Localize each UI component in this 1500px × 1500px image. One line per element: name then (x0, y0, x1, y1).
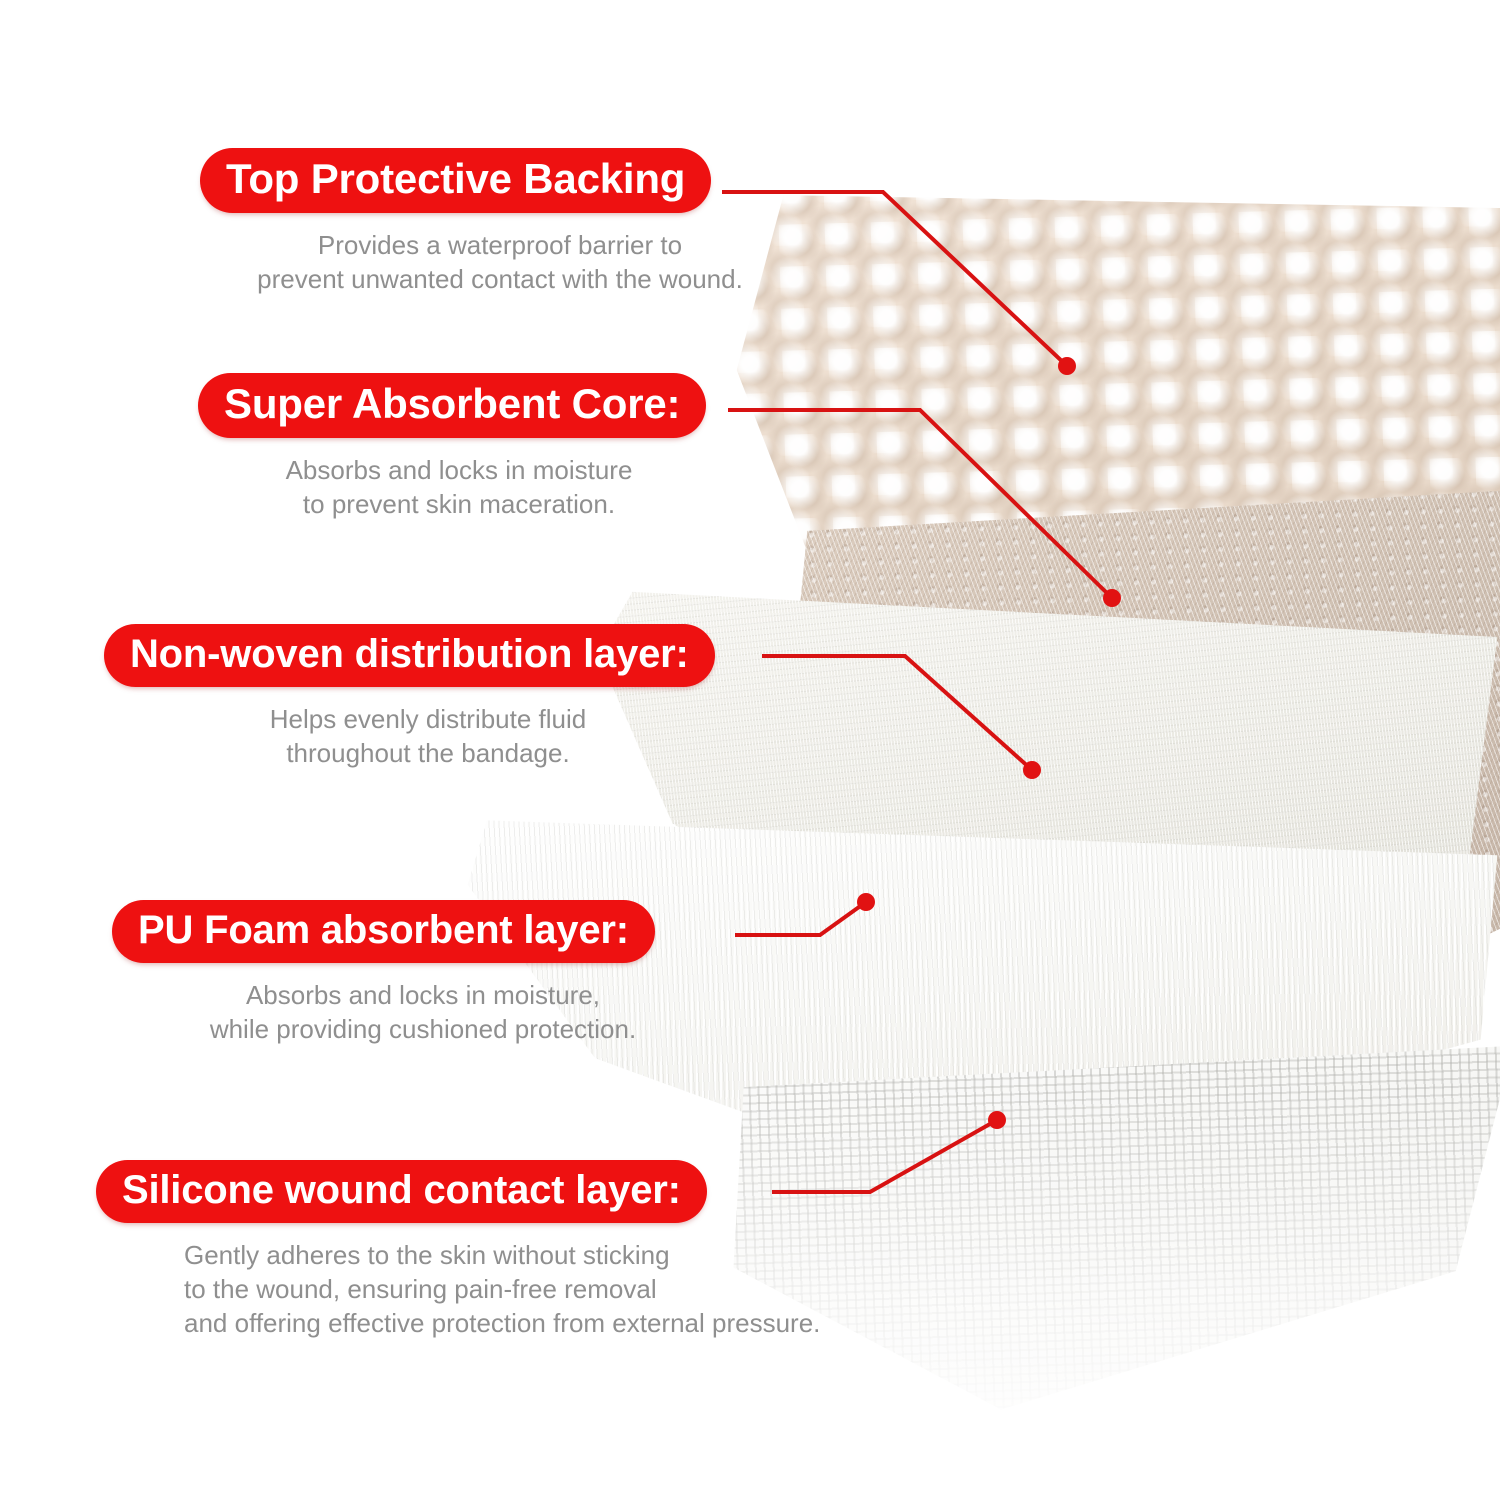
callout-description-nonwoven: Helps evenly distribute fluid throughout… (98, 703, 758, 771)
callout-list: Top Protective Backing Provides a waterp… (0, 0, 1500, 1500)
callout-absorbent-core: Super Absorbent Core: Absorbs and locks … (198, 373, 724, 522)
callout-title-top-backing: Top Protective Backing (200, 148, 711, 213)
callout-description-silicone: Gently adheres to the skin without stick… (184, 1239, 1014, 1340)
callout-title-nonwoven: Non-woven distribution layer: (104, 624, 715, 687)
callout-description-absorbent-core: Absorbs and locks in moisture to prevent… (194, 454, 724, 522)
callout-silicone: Silicone wound contact layer: Gently adh… (96, 1160, 1014, 1340)
callout-title-absorbent-core: Super Absorbent Core: (198, 373, 706, 438)
callout-top-backing: Top Protective Backing Provides a waterp… (200, 148, 808, 297)
callout-nonwoven: Non-woven distribution layer: Helps even… (104, 624, 758, 771)
callout-description-pu-foam: Absorbs and locks in moisture, while pro… (108, 979, 738, 1047)
callout-description-top-backing: Provides a waterproof barrier to prevent… (192, 229, 808, 297)
callout-title-silicone: Silicone wound contact layer: (96, 1160, 707, 1223)
callout-pu-foam: PU Foam absorbent layer: Absorbs and loc… (112, 900, 738, 1047)
callout-title-pu-foam: PU Foam absorbent layer: (112, 900, 655, 963)
